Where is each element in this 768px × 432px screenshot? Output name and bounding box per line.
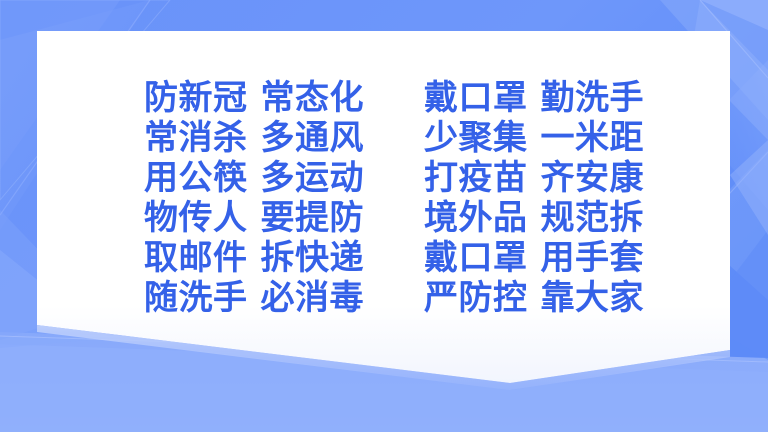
slogan-phrase-b: 勤洗手 (541, 78, 645, 118)
page-title: 防新冠常态化宣传标语 (0, 21, 1, 22)
slogan-phrase-b: 拆快递 (261, 238, 365, 278)
slogan-row: 物传人要提防 (144, 198, 364, 238)
slogan-phrase-a: 戴口罩 (424, 78, 528, 118)
slogan-row: 戴口罩勤洗手 (424, 78, 644, 118)
slogan-phrase-b: 多通风 (261, 118, 365, 158)
slogan-row: 境外品规范拆 (424, 198, 644, 238)
slogan-phrase-a: 物传人 (144, 198, 248, 238)
slogan-phrase-a: 防新冠 (144, 78, 248, 118)
slogan-phrase-b: 规范拆 (541, 198, 645, 238)
slogan-row: 少聚集一米距 (424, 118, 644, 158)
slogan-row: 取邮件拆快递 (144, 238, 364, 278)
slogan-phrase-a: 常消杀 (144, 118, 248, 158)
slogan-phrase-b: 齐安康 (541, 158, 645, 198)
slogan-row: 随洗手必消毒 (144, 278, 364, 318)
slogan-phrase-b: 常态化 (261, 78, 365, 118)
slogan-row: 常消杀多通风 (144, 118, 364, 158)
slogan-phrase-b: 靠大家 (541, 278, 645, 318)
slogan-phrase-b: 要提防 (261, 198, 365, 238)
slogan-layer: 防新冠常态化宣传标语 防新冠常态化 常消杀多通风 用公筷多运动 物传人要提防 取… (0, 0, 768, 432)
slogan-phrase-a: 少聚集 (424, 118, 528, 158)
slogan-column-left: 防新冠常态化 常消杀多通风 用公筷多运动 物传人要提防 取邮件拆快递 随洗手必消… (144, 78, 364, 318)
slogan-row: 严防控靠大家 (424, 278, 644, 318)
slogan-column-right: 戴口罩勤洗手 少聚集一米距 打疫苗齐安康 境外品规范拆 戴口罩用手套 严防控靠大… (424, 78, 644, 318)
slogan-phrase-a: 取邮件 (144, 238, 248, 278)
slogan-row: 戴口罩用手套 (424, 238, 644, 278)
slogan-phrase-b: 一米距 (541, 118, 645, 158)
slogan-phrase-a: 严防控 (424, 278, 528, 318)
slogan-phrase-b: 必消毒 (261, 278, 365, 318)
poster-canvas: 防新冠常态化宣传标语 防新冠常态化 常消杀多通风 用公筷多运动 物传人要提防 取… (0, 0, 768, 432)
slogan-row: 用公筷多运动 (144, 158, 364, 198)
slogan-row: 防新冠常态化 (144, 78, 364, 118)
slogan-phrase-a: 境外品 (424, 198, 528, 238)
slogan-phrase-a: 打疫苗 (424, 158, 528, 198)
slogan-phrase-b: 多运动 (261, 158, 365, 198)
slogan-phrase-a: 随洗手 (144, 278, 248, 318)
slogan-phrase-a: 用公筷 (144, 158, 248, 198)
slogan-phrase-b: 用手套 (541, 238, 645, 278)
slogan-phrase-a: 戴口罩 (424, 238, 528, 278)
slogan-row: 打疫苗齐安康 (424, 158, 644, 198)
